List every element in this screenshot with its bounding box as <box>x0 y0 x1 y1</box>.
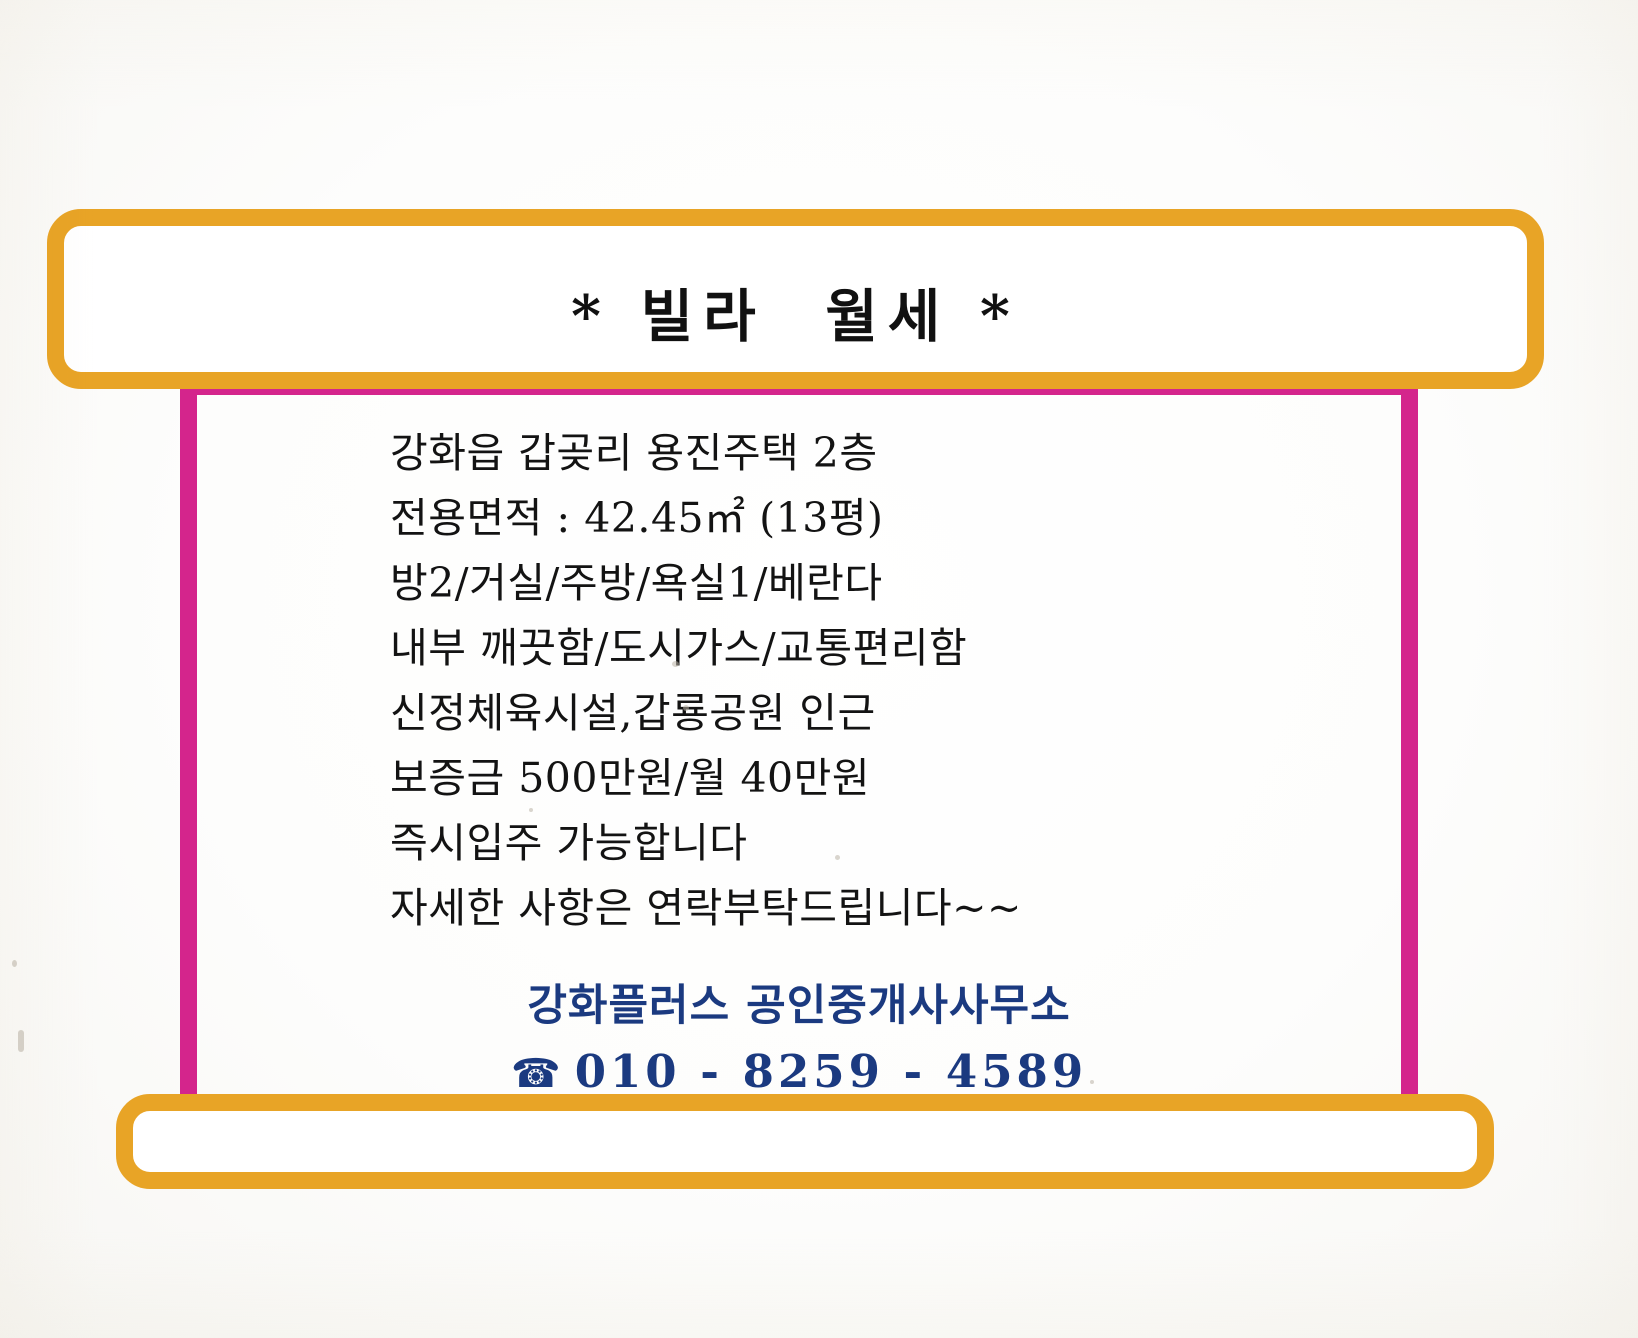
listing-line-nearby: 신정체육시설,갑룡공원 인근 <box>390 681 1370 746</box>
scan-speck <box>12 960 17 967</box>
phone-row[interactable]: ☎ 010 - 8259 - 4589 <box>180 1045 1418 1098</box>
footer-banner-box <box>116 1094 1494 1189</box>
listing-line-price: 보증금 500만원/월 40만원 <box>390 746 1370 811</box>
phone-number[interactable]: 010 - 8259 - 4589 <box>575 1045 1087 1098</box>
listing-line-address: 강화읍 갑곶리 용진주택 2층 <box>390 421 1370 486</box>
scan-speck <box>683 705 689 711</box>
scan-speck <box>1090 1080 1094 1084</box>
listing-line-features: 내부 깨끗함/도시가스/교통편리함 <box>390 616 1370 681</box>
contact-block: 강화플러스 공인중개사사무소 ☎ 010 - 8259 - 4589 <box>180 975 1418 1098</box>
listing-line-rooms: 방2/거실/주방/욕실1/베란다 <box>390 551 1370 616</box>
scan-speck <box>18 1030 24 1052</box>
scanned-flyer-page: * 빌라 월세 * 강화읍 갑곶리 용진주택 2층 전용면적 : 42.45㎡ … <box>0 0 1638 1338</box>
scan-speck <box>672 661 679 667</box>
listing-line-area: 전용면적 : 42.45㎡ (13평) <box>390 486 1370 551</box>
telephone-icon: ☎ <box>511 1054 561 1094</box>
scan-speck <box>529 808 533 812</box>
listing-line-availability: 즉시입주 가능합니다 <box>390 811 1370 876</box>
listing-line-callout: 자세한 사항은 연락부탁드립니다~~ <box>390 876 1370 941</box>
header-banner-box: * 빌라 월세 * <box>47 209 1544 389</box>
listing-details-block: 강화읍 갑곶리 용진주택 2층 전용면적 : 42.45㎡ (13평) 방2/거… <box>390 421 1370 941</box>
page-title: * 빌라 월세 * <box>64 226 1527 372</box>
agency-name: 강화플러스 공인중개사사무소 <box>180 975 1418 1037</box>
scan-speck <box>835 855 840 860</box>
